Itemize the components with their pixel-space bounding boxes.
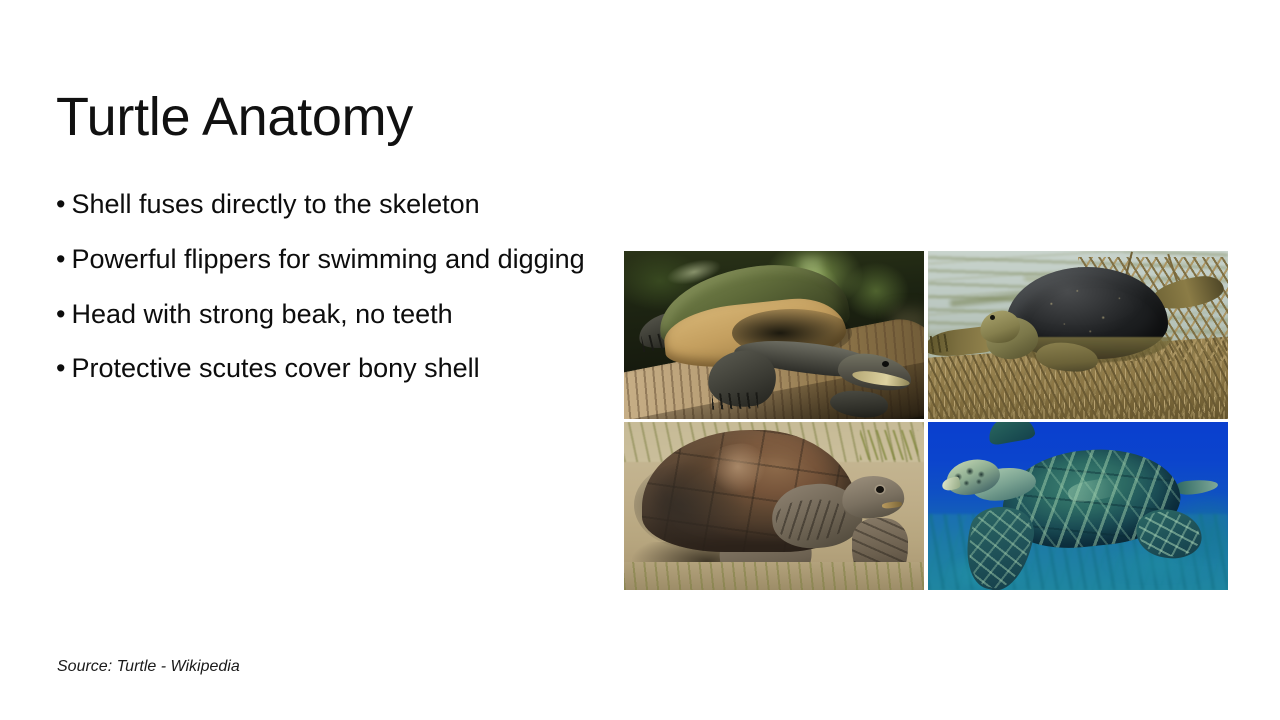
turtle-eye xyxy=(882,361,889,367)
list-item: •Shell fuses directly to the skeleton xyxy=(56,186,608,224)
foreground-grass xyxy=(624,562,924,590)
source-citation: Source: Turtle - Wikipedia xyxy=(57,658,240,676)
tortoise-eye xyxy=(876,486,884,493)
list-item-text: Shell fuses directly to the skeleton xyxy=(71,189,479,219)
bullet-icon: • xyxy=(56,189,71,219)
turtle-claws xyxy=(712,392,759,410)
bullet-list: •Shell fuses directly to the skeleton •P… xyxy=(56,186,608,388)
slide-canvas: Turtle Anatomy •Shell fuses directly to … xyxy=(0,0,1280,720)
list-item-text: Head with strong beak, no teeth xyxy=(71,299,452,329)
photo-softshell-turtle-on-reeds xyxy=(928,251,1228,419)
list-item: •Head with strong beak, no teeth xyxy=(56,296,608,334)
bullet-icon: • xyxy=(56,244,71,274)
list-item: •Powerful flippers for swimming and digg… xyxy=(56,241,608,279)
carapace-keel xyxy=(986,422,1036,446)
photo-giant-tortoise-on-dry-ground xyxy=(624,422,924,590)
turtle-eye xyxy=(990,315,995,320)
list-item-text: Protective scutes cover bony shell xyxy=(71,353,479,383)
bullet-icon: • xyxy=(56,299,71,329)
bullet-icon: • xyxy=(56,353,71,383)
image-grid xyxy=(624,251,1228,590)
photo-hawksbill-sea-turtle-swimming xyxy=(928,422,1228,590)
list-item: •Protective scutes cover bony shell xyxy=(56,350,608,388)
photo-long-necked-side-neck-turtle-on-log xyxy=(624,251,924,419)
page-title: Turtle Anatomy xyxy=(56,86,956,148)
list-item-text: Powerful flippers for swimming and diggi… xyxy=(71,244,584,274)
grass-tuft xyxy=(860,430,918,460)
